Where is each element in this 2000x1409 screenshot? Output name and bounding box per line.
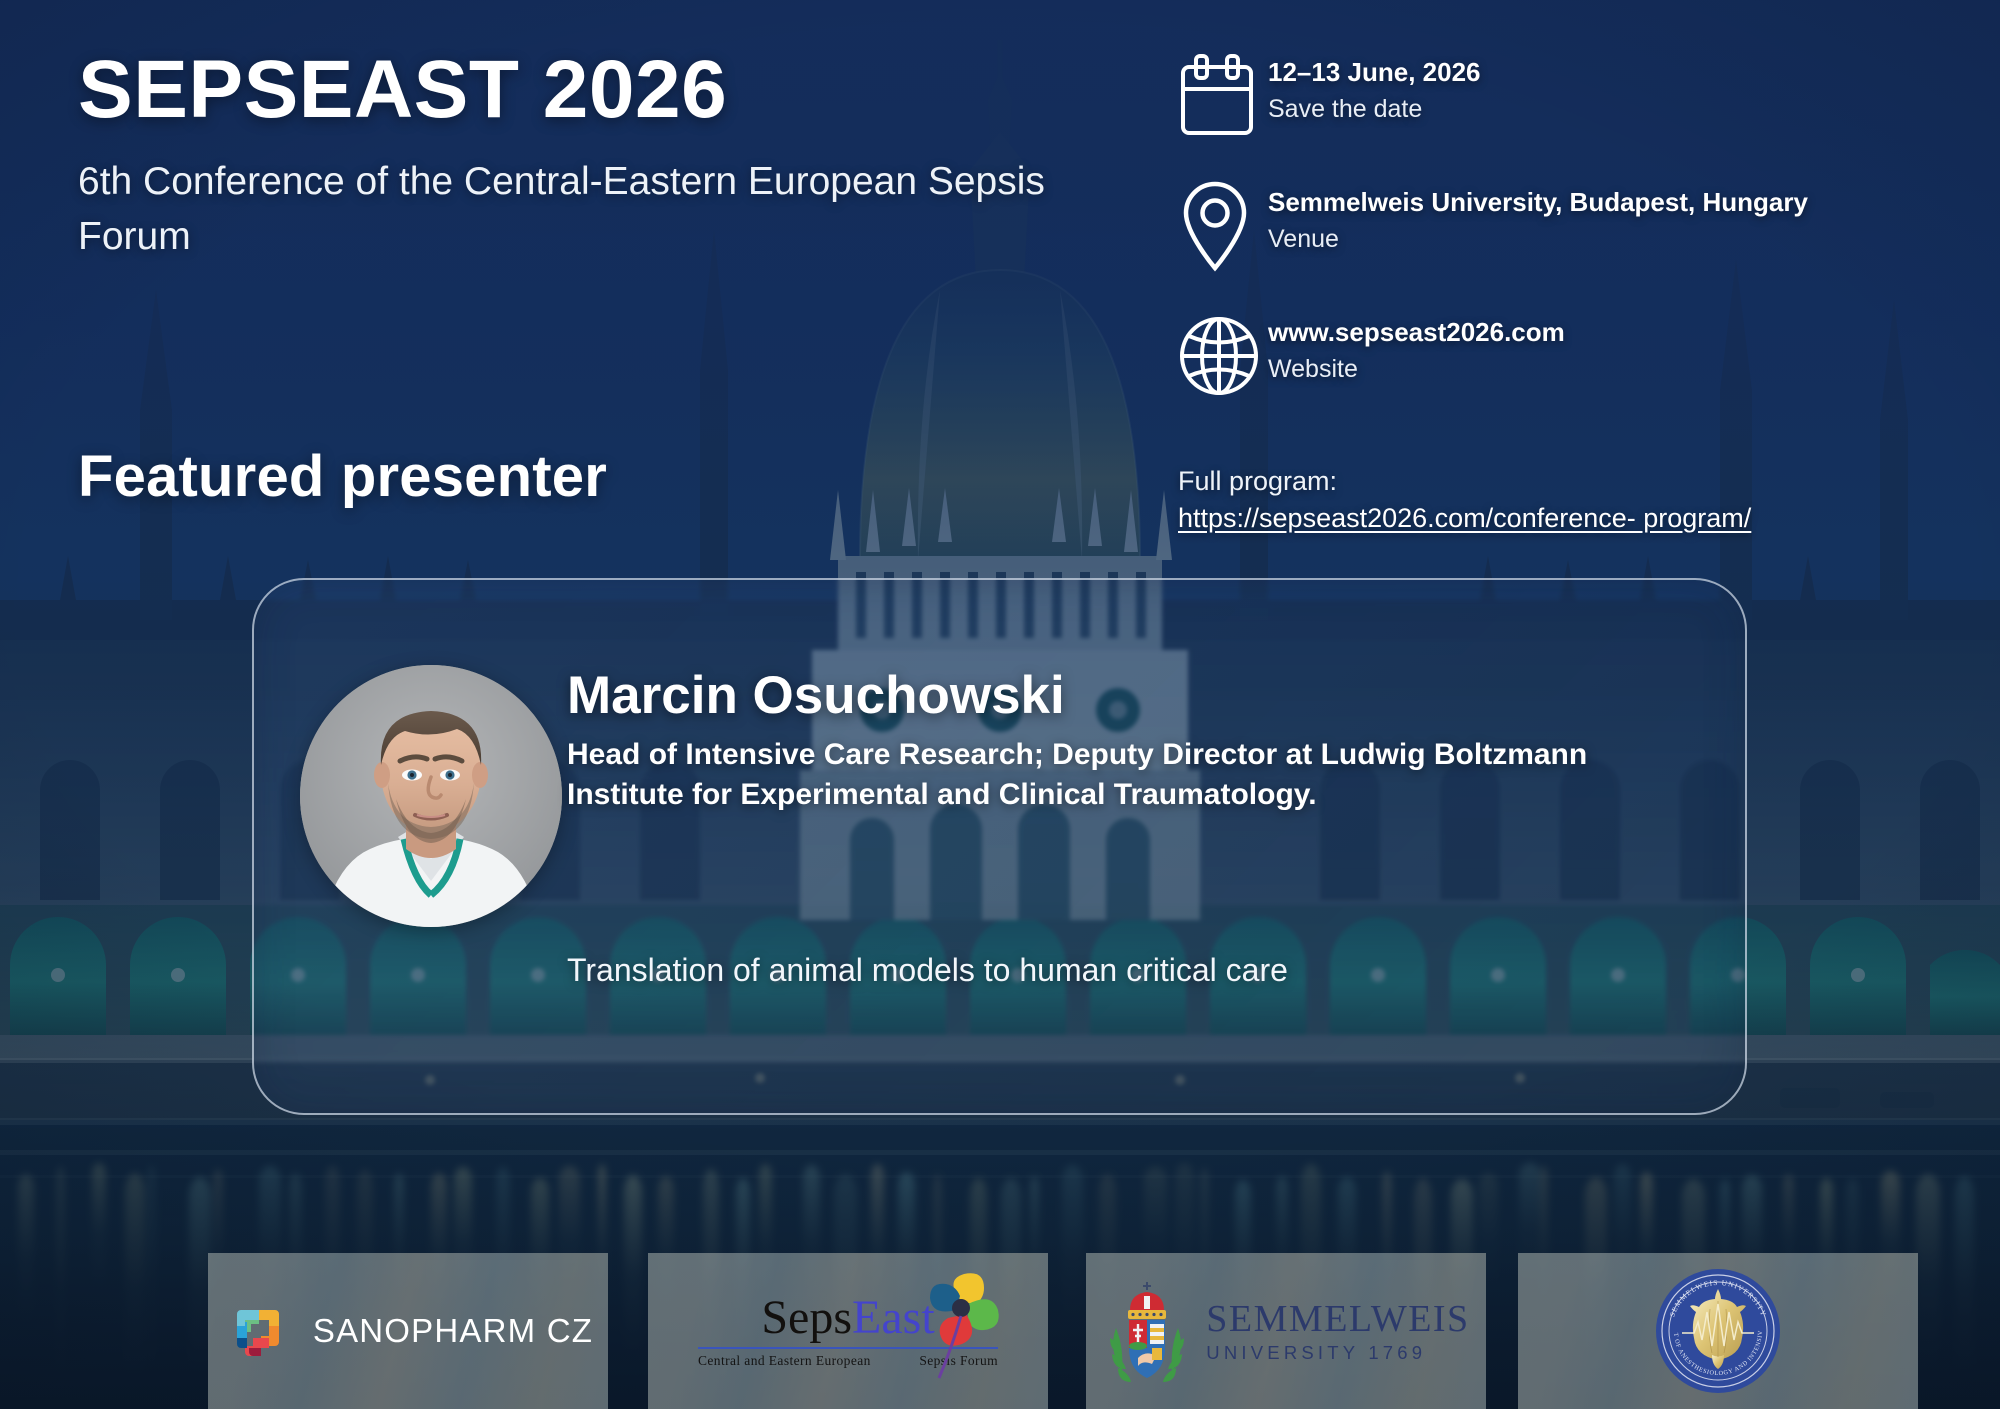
sepseast-word-seps: Seps <box>761 1291 852 1344</box>
sanopharm-logo-icon <box>223 1296 293 1366</box>
sponsor-panel-sepseast[interactable]: SepsEast Central and Eastern European Se… <box>648 1253 1048 1409</box>
venue-label: Venue <box>1268 223 1808 256</box>
sanopharm-label: SANOPHARM CZ <box>313 1312 593 1350</box>
semmelweis-name: SEMMELWEIS <box>1206 1300 1469 1338</box>
speaker-portrait-image <box>300 665 562 927</box>
title-block: SEPSEAST 2026 6th Conference of the Cent… <box>78 48 1108 264</box>
info-row-date: 12–13 June, 2026 Save the date <box>1178 48 1878 144</box>
info-row-venue: Semmelweis University, Budapest, Hungary… <box>1178 178 1878 274</box>
map-pin-icon <box>1178 178 1268 274</box>
conference-title: SEPSEAST 2026 <box>78 48 1108 132</box>
speaker-avatar <box>300 665 562 927</box>
full-program-block: Full program: https://sepseast2026.com/c… <box>1178 463 1938 536</box>
featured-presenter-heading: Featured presenter <box>78 443 607 510</box>
sponsor-panel-anesthesiology[interactable]: SEMMELWEIS UNIVERSITY DEPARTMENT OF ANES… <box>1518 1253 1918 1409</box>
sepseast-pinwheel-icon <box>918 1266 1004 1386</box>
sponsor-strip: SANOPHARM CZ SepsEast Central and Easter… <box>0 1253 2000 1409</box>
conference-subtitle: 6th Conference of the Central-Eastern Eu… <box>78 154 1108 265</box>
anesthesiology-seal-icon: SEMMELWEIS UNIVERSITY DEPARTMENT OF ANES… <box>1654 1267 1782 1395</box>
globe-icon <box>1178 308 1268 404</box>
sponsor-panel-sanopharm[interactable]: SANOPHARM CZ <box>208 1253 608 1409</box>
event-info-list: 12–13 June, 2026 Save the date Semmelwei… <box>1178 48 1878 438</box>
info-row-website[interactable]: www.sepseast2026.com Website <box>1178 308 1878 404</box>
full-program-label: Full program: <box>1178 463 1938 500</box>
event-date-label: Save the date <box>1268 93 1481 126</box>
event-date-value: 12–13 June, 2026 <box>1268 56 1481 89</box>
semmelweis-subtitle: UNIVERSITY 1769 <box>1206 1344 1469 1363</box>
speaker-role: Head of Intensive Care Research; Deputy … <box>567 735 1687 815</box>
website-value[interactable]: www.sepseast2026.com <box>1268 316 1565 349</box>
talk-title: Translation of animal models to human cr… <box>567 950 1288 992</box>
sepseast-sub-left: Central and Eastern European <box>698 1353 871 1369</box>
calendar-icon <box>1178 48 1268 144</box>
speaker-name: Marcin Osuchowski <box>567 668 1687 724</box>
semmelweis-coat-of-arms-icon <box>1102 1276 1192 1386</box>
speaker-text-block: Marcin Osuchowski Head of Intensive Care… <box>567 668 1687 816</box>
venue-value: Semmelweis University, Budapest, Hungary <box>1268 186 1808 219</box>
sponsor-panel-semmelweis[interactable]: SEMMELWEIS UNIVERSITY 1769 <box>1086 1253 1486 1409</box>
conference-poster: SEPSEAST 2026 6th Conference of the Cent… <box>0 0 2000 1409</box>
website-label: Website <box>1268 353 1565 386</box>
full-program-link[interactable]: https://sepseast2026.com/conference- pro… <box>1178 500 1938 537</box>
